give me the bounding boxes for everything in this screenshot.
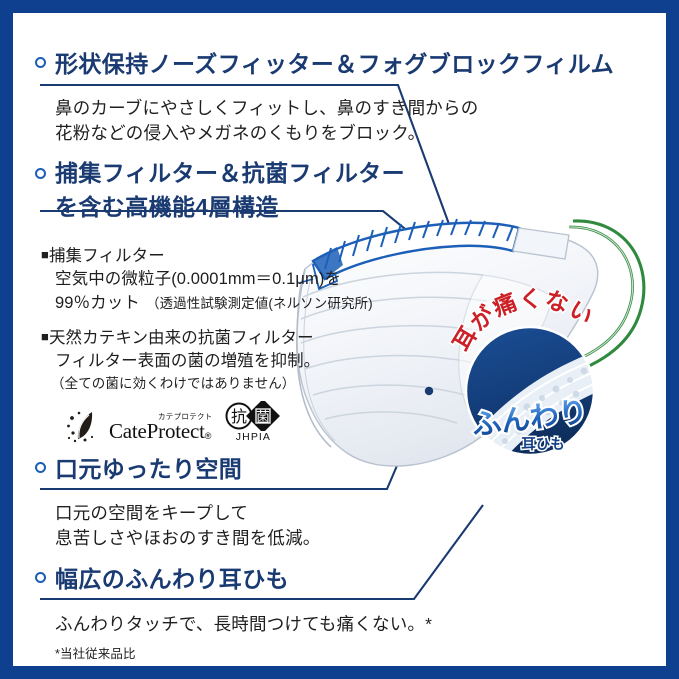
filter-item-capture: ■捕集フィルター 空気中の微粒子(0.0001mm＝0.1μm)を 99％カット… [41,245,373,315]
registered-mark: ® [205,431,212,441]
svg-text:抗: 抗 [231,407,247,426]
body-line: ふんわりタッチで、長時間つけても痛くない。* [55,612,432,637]
footnote: *当社従来品比 [55,643,432,662]
body-line: 口元の空間をキープして [55,501,321,526]
section-filters: 捕集フィルター＆抗菌フィルター を含む高機能4層構造 [35,159,405,222]
section-heading-text-line1: 捕集フィルター＆抗菌フィルター [55,159,405,188]
ring-bullet-icon [35,57,46,68]
section-heading-text: 口元ゆったり空間 [55,450,242,484]
filter-item-antibacterial: ■天然カテキン由来の抗菌フィルター フィルター表面の菌の増殖を抑制。 （全ての菌… [41,327,320,393]
filter-title-text: 捕集フィルター [49,247,165,265]
section-mouth-space: 口元ゆったり空間 口元の空間をキープして 息苦しさやほおのすき間を低減。 [35,450,321,552]
poster-frame: 耳が痛くない ふんわり 耳ひも 形状保持ノーズフィッター＆フォグブロックフィルム [0,0,679,679]
section-body: 口元の空間をキープして 息苦しさやほおのすき間を低減。 [55,501,321,552]
filter-item-title: ■天然カテキン由来の抗菌フィルター [41,327,320,350]
filter-item-title: ■捕集フィルター [41,245,373,268]
section-heading-text: 幅広のふんわり耳ひも [55,560,289,594]
section-heading: 口元ゆったり空間 [35,450,321,484]
section-body: ふんわりタッチで、長時間つけても痛くない。* [55,612,432,637]
section-ear-loops: 幅広のふんわり耳ひも ふんわりタッチで、長時間つけても痛くない。* *当社従来品… [35,560,432,662]
section-heading: 形状保持ノーズフィッター＆フォグブロックフィルム [35,45,614,79]
filter-annotation: （透過性試験測定値(ネルソン研究所) [146,296,373,311]
section-body: 鼻のカーブにやさしくフィットし、鼻のすき間からの 花粉などの侵入やメガネのくもり… [55,96,614,147]
section-heading: 捕集フィルター＆抗菌フィルター [35,159,405,188]
square-marker-icon: ■ [41,329,49,344]
cateprotect-logo: カテプロテクト CateProtect® [65,409,211,443]
jhpia-label: JHPIA [236,431,271,443]
filter-cut-rate: 99％カット [55,294,140,312]
ring-bullet-icon [35,168,46,179]
body-line: 息苦しさやほおのすき間を低減。 [55,526,321,551]
section-nose-fitter: 形状保持ノーズフィッター＆フォグブロックフィルム 鼻のカーブにやさしくフィットし… [35,45,614,147]
svg-text:菌: 菌 [256,410,270,426]
jhpia-badge: 抗 菌 JHPIA [225,401,281,443]
section-heading-text: 形状保持ノーズフィッター＆フォグブロックフィルム [55,45,614,79]
square-marker-icon: ■ [41,247,49,262]
body-line: 花粉などの侵入やメガネのくもりをブロック。 [55,121,614,146]
ring-bullet-icon [35,462,46,473]
filter-item-line2: 99％カット（透過性試験測定値(ネルソン研究所) [55,292,373,315]
ring-bullet-icon [35,572,46,583]
antibacterial-mark-icon: 抗 菌 [225,401,281,431]
filter-title-text: 天然カテキン由来の抗菌フィルター [49,329,314,347]
cateprotect-wordmark: CateProtect [109,419,205,443]
content-layer: 形状保持ノーズフィッター＆フォグブロックフィルム 鼻のカーブにやさしくフィットし… [13,13,666,666]
cateprotect-ruby: カテプロテクト [158,411,213,422]
filter-item-line: フィルター表面の菌の増殖を抑制。 [55,350,320,373]
filter-annotation: （全ての菌に効くわけではありません） [51,374,320,393]
leaf-icon [65,409,109,443]
section-heading-text-line2: を含む高機能4層構造 [55,188,405,222]
body-line: 鼻のカーブにやさしくフィットし、鼻のすき間からの [55,96,614,121]
filter-item-line: 空気中の微粒子(0.0001mm＝0.1μm)を [55,268,373,291]
poster-inner: 耳が痛くない ふんわり 耳ひも 形状保持ノーズフィッター＆フォグブロックフィルム [13,13,666,666]
certification-logos: カテプロテクト CateProtect® 抗 菌 JHPIA [65,401,281,443]
section-heading: 幅広のふんわり耳ひも [35,560,432,594]
